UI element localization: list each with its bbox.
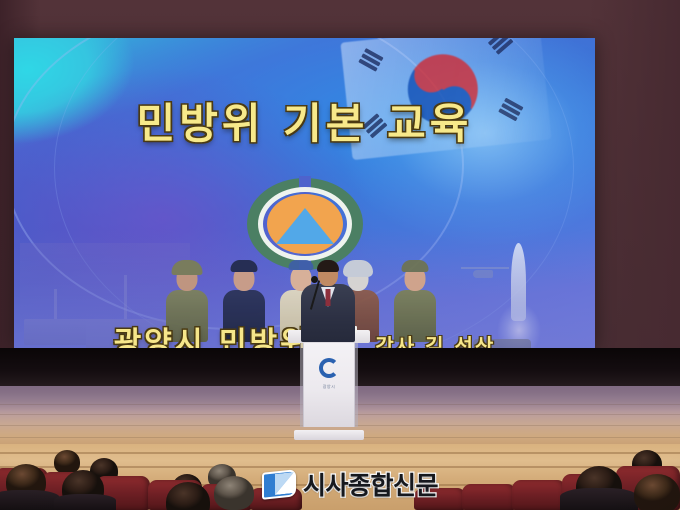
watermark-logo: 시사종합신문 (262, 466, 438, 502)
audience-shoulders (0, 490, 60, 510)
figure-headgear (402, 260, 429, 272)
speaker-hair (317, 260, 339, 272)
slide-lecturer: 강사 김 선산 (375, 330, 495, 349)
speaker-figure (300, 262, 356, 348)
gwangyang-city-logo-icon (319, 358, 339, 378)
wall-shadow-right (590, 0, 680, 352)
microphone-icon (311, 276, 318, 283)
audience-head (214, 476, 254, 510)
slide-title: 민방위 기본 교육 (14, 90, 595, 151)
figure-headgear (231, 260, 258, 272)
open-book-icon (262, 469, 298, 500)
theater-seat (512, 480, 566, 510)
audience-head (634, 474, 680, 510)
theater-seat (462, 484, 516, 510)
podium-logo-caption: 광양시 (288, 384, 370, 390)
emblem-blue-triangle (276, 208, 334, 244)
audience-shoulders (560, 488, 638, 510)
audience-shoulders (54, 494, 116, 510)
figure-headgear (172, 260, 203, 275)
photo-canvas: 민방위 기본 교육 (0, 0, 680, 510)
podium-base (294, 430, 364, 440)
watermark-brand-text: 시사종합신문 (303, 466, 438, 502)
speaker-tie (326, 289, 331, 306)
